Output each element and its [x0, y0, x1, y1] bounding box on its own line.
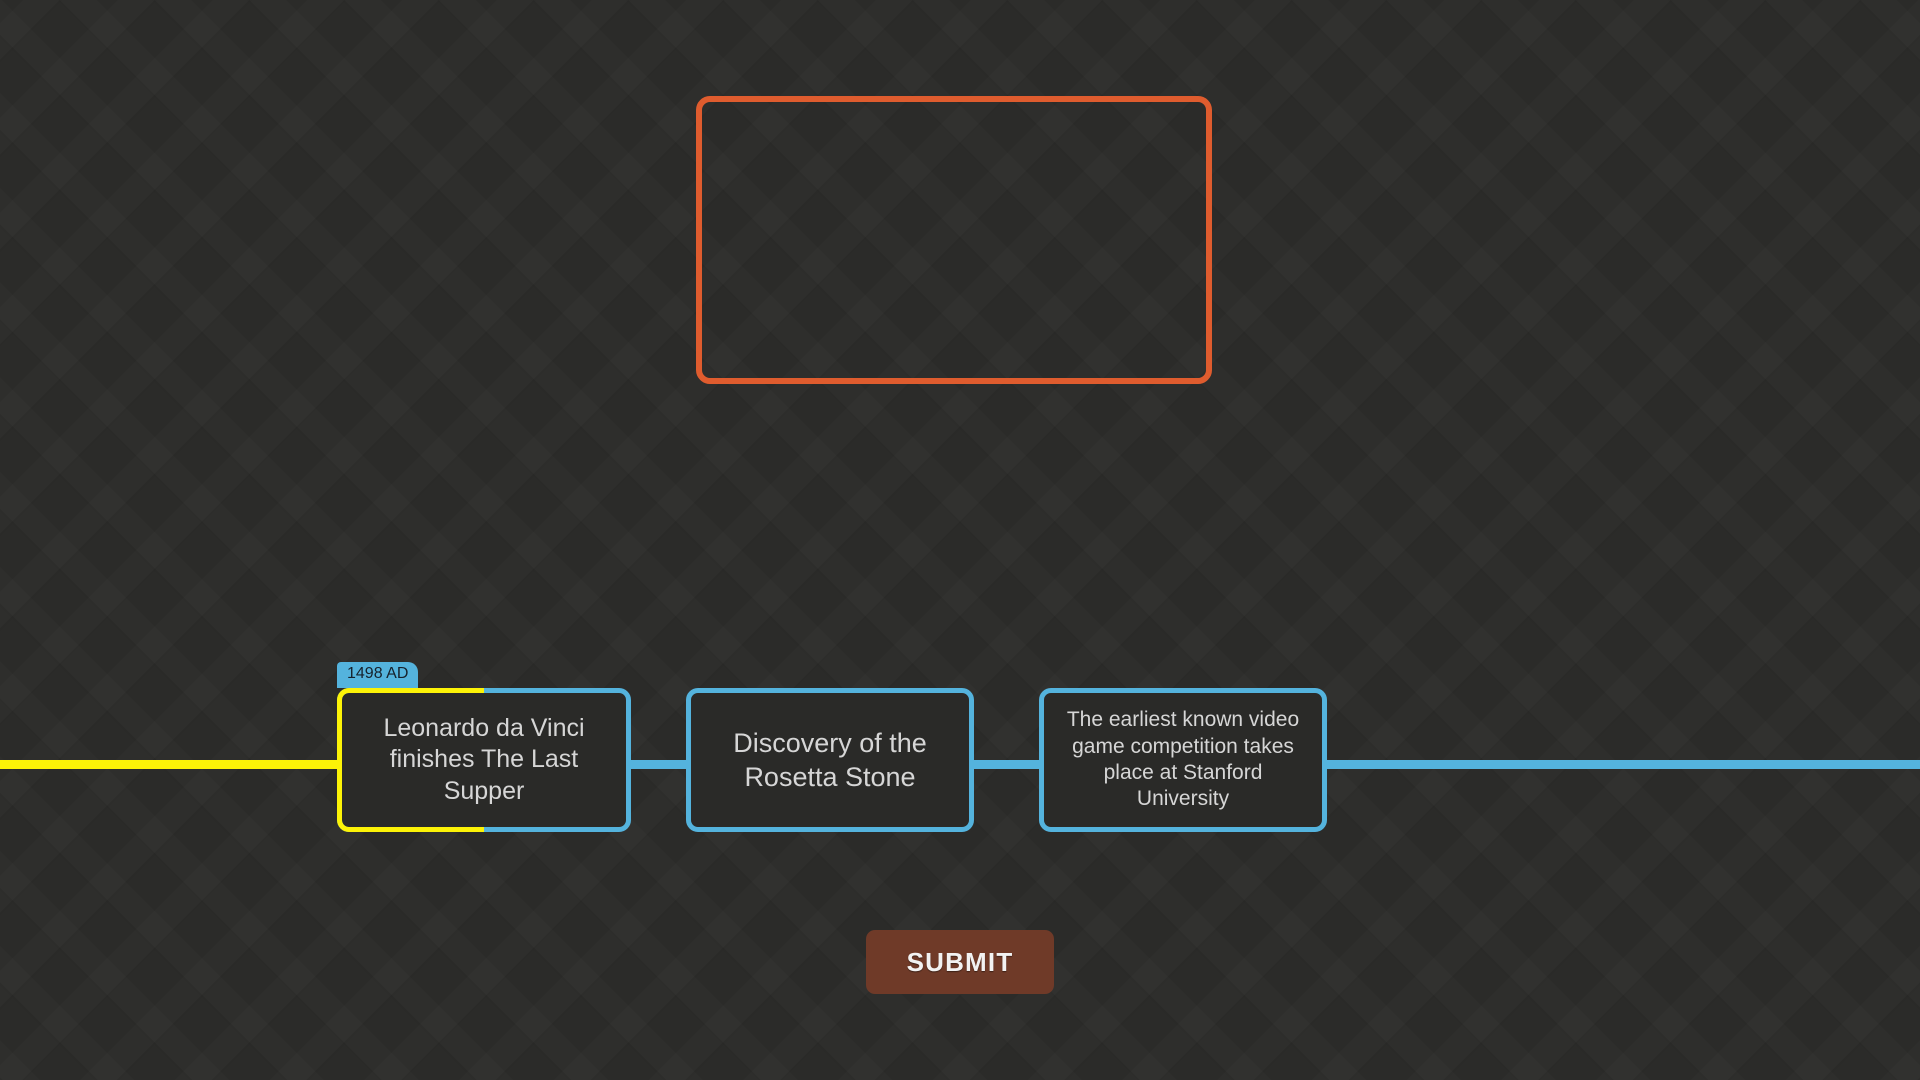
timeline-card-1[interactable]: Leonardo da Vinci finishes The Last Supp… [337, 688, 631, 832]
timeline-rail-segment-2 [974, 760, 1039, 769]
timeline-card-2[interactable]: Discovery of the Rosetta Stone [686, 688, 974, 832]
timeline-card-2-label: Discovery of the Rosetta Stone [691, 726, 969, 794]
date-badge: 1498 AD [337, 662, 418, 688]
submit-button[interactable]: SUBMIT [866, 930, 1054, 994]
timeline-rail-segment-1 [628, 760, 686, 769]
timeline-rail-right [1327, 760, 1920, 769]
timeline-rail-left [0, 760, 345, 769]
drop-zone-target[interactable] [696, 96, 1212, 384]
timeline-card-3[interactable]: The earliest known video game competitio… [1039, 688, 1327, 832]
timeline-card-1-label: Leonardo da Vinci finishes The Last Supp… [342, 713, 626, 808]
timeline-card-3-label: The earliest known video game competitio… [1044, 707, 1322, 813]
